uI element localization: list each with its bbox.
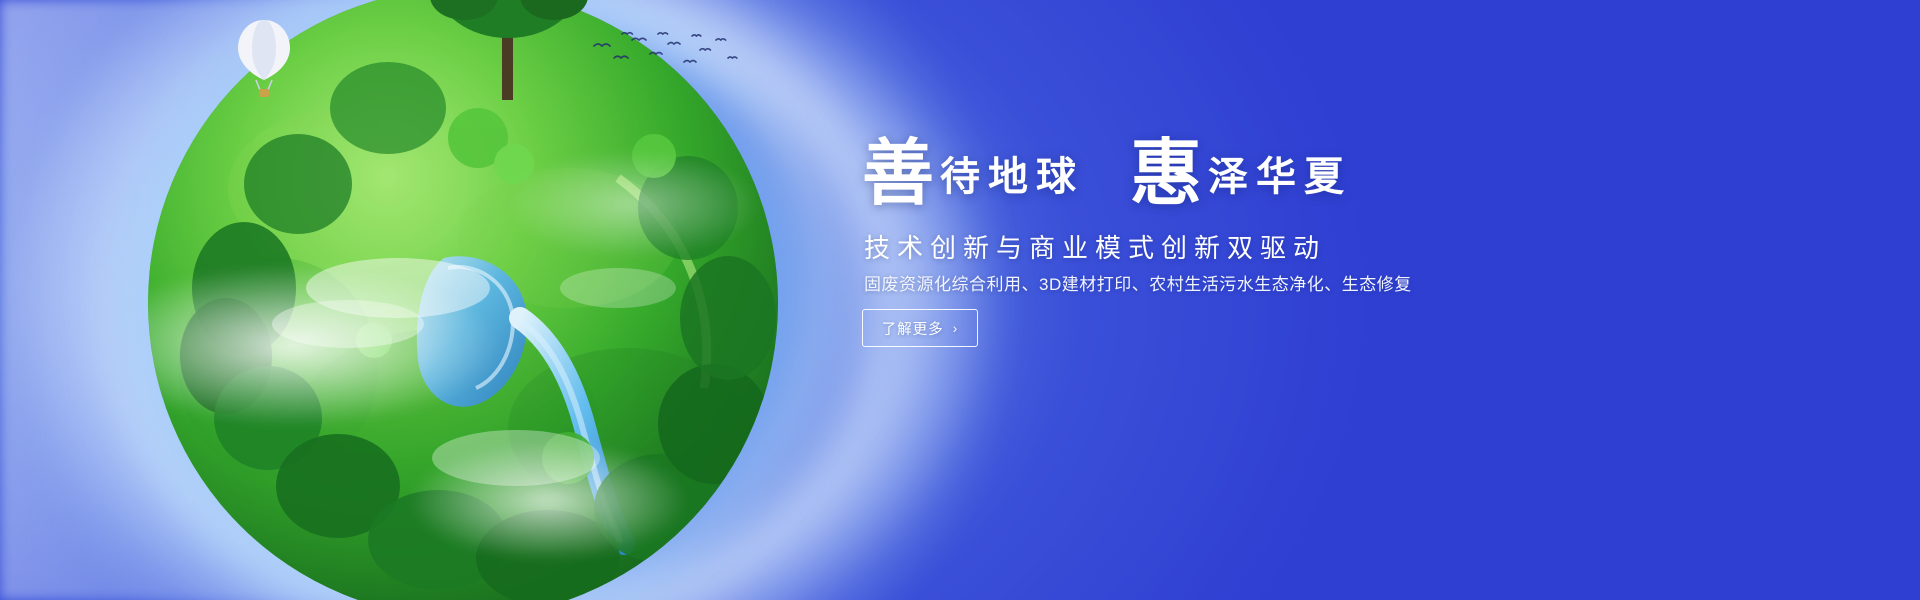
headline-char-1: 善 [862, 134, 934, 214]
page-title: 善待地球惠泽华夏 [862, 138, 1352, 210]
learn-more-button[interactable]: 了解更多 › [862, 309, 978, 347]
hero-content: 善待地球惠泽华夏 技术创新与商业模式创新双驱动 固废资源化综合利用、3D建材打印… [862, 0, 1862, 600]
headline-part-2: 泽华夏 [1202, 154, 1352, 199]
hero-banner: 善待地球惠泽华夏 技术创新与商业模式创新双驱动 固废资源化综合利用、3D建材打印… [0, 0, 1920, 600]
headline-char-2: 惠 [1130, 134, 1202, 214]
learn-more-label: 了解更多 [882, 318, 944, 339]
tiny-planet-earth-image [148, 0, 778, 600]
chevron-right-icon: › [953, 321, 959, 335]
planet-sphere [148, 0, 778, 600]
hero-description: 固废资源化综合利用、3D建材打印、农村生活污水生态净化、生态修复 [864, 270, 1412, 295]
planet-surface-svg [148, 0, 778, 600]
hero-subtitle: 技术创新与商业模式创新双驱动 [864, 228, 1326, 265]
headline-part-1: 待地球 [934, 154, 1084, 199]
